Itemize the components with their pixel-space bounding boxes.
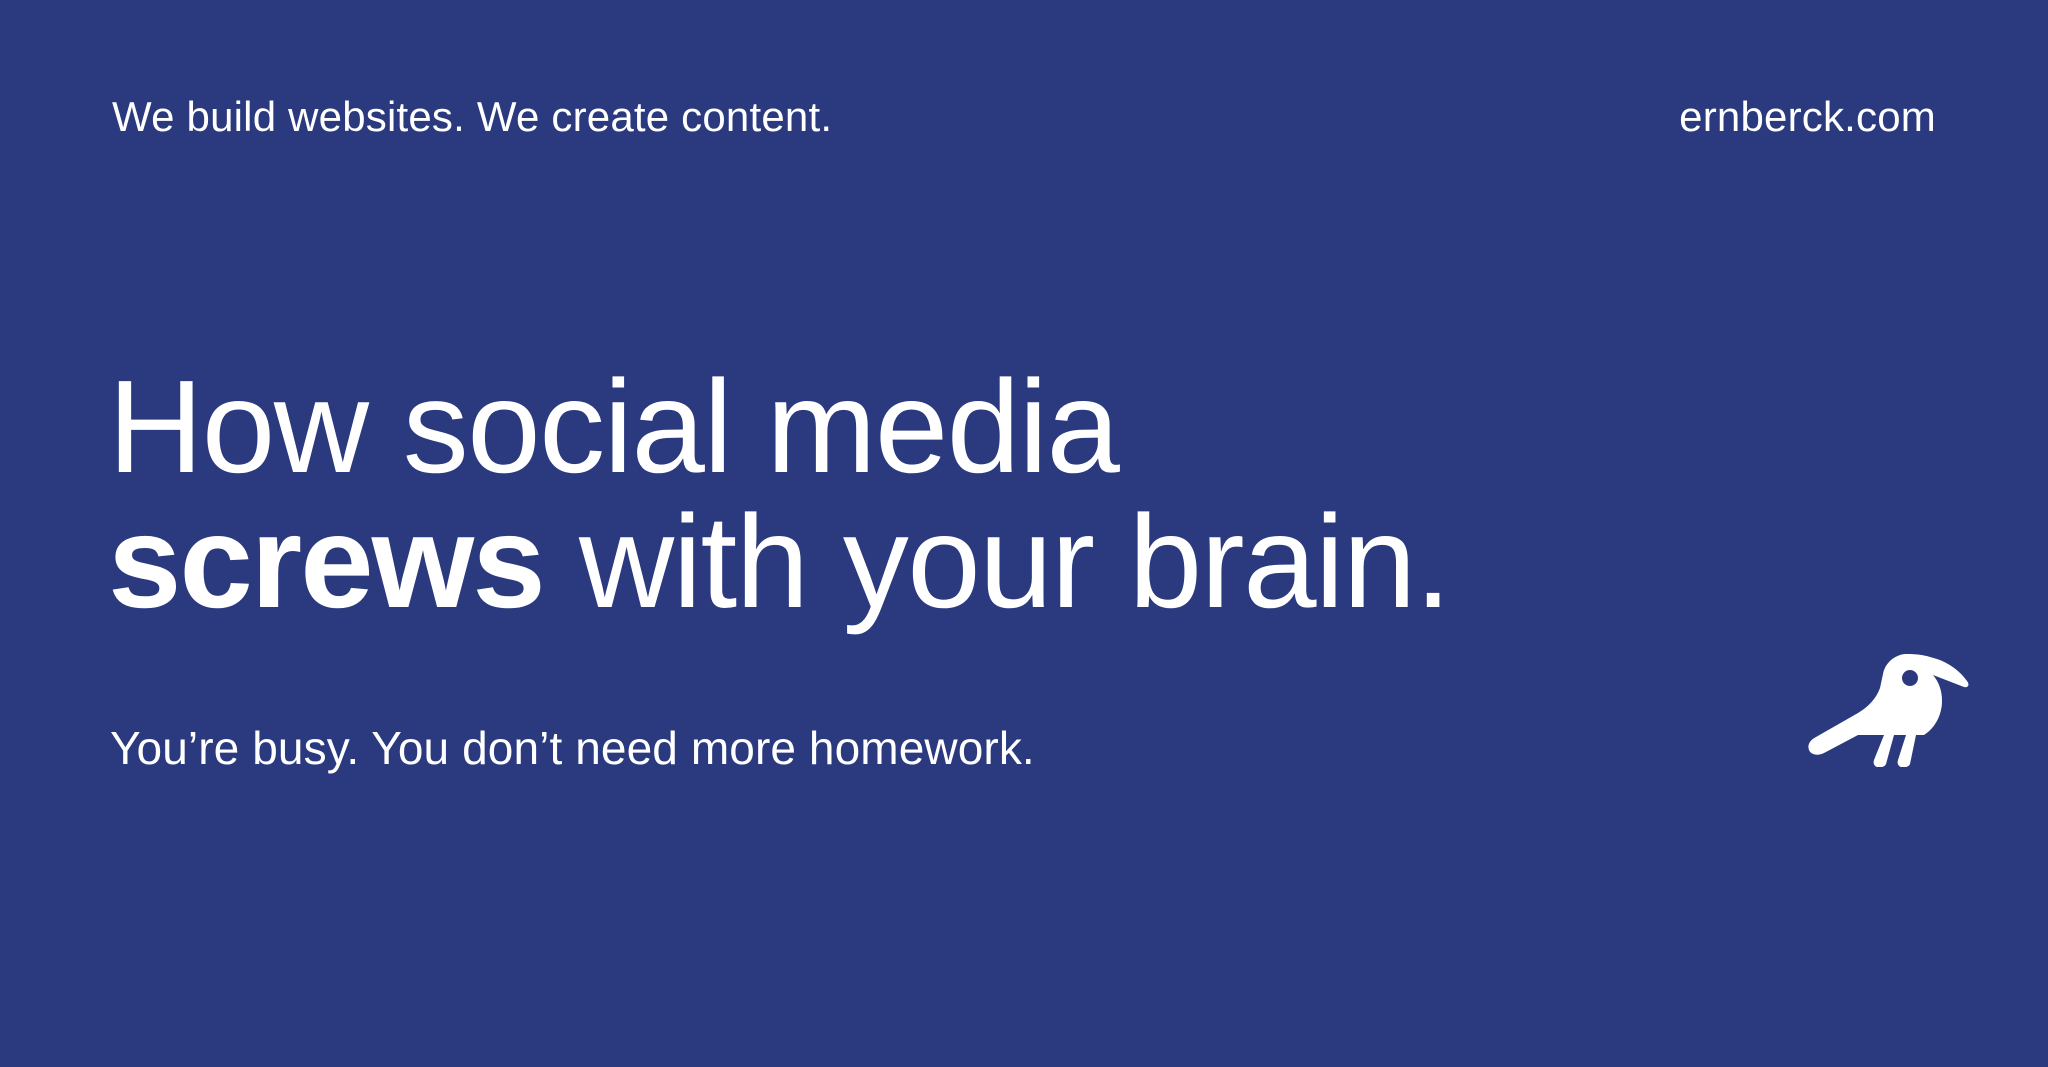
header-row: We build websites. We create content. er…	[112, 96, 1936, 138]
poster-canvas: We build websites. We create content. er…	[0, 0, 2048, 1067]
headline-line-1: How social media	[108, 360, 1450, 495]
subline-text: You’re busy. You don’t need more homewor…	[110, 725, 1035, 771]
headline-line-2-suffix: with your brain.	[544, 488, 1450, 635]
crow-bird-icon	[1806, 647, 1974, 767]
site-url-text[interactable]: ernberck.com	[1679, 96, 1936, 138]
headline-line-2: screws with your brain.	[108, 495, 1450, 630]
headline-emphasis-word: screws	[108, 488, 544, 635]
tagline-text: We build websites. We create content.	[112, 96, 832, 138]
headline: How social media screws with your brain.	[108, 360, 1450, 629]
